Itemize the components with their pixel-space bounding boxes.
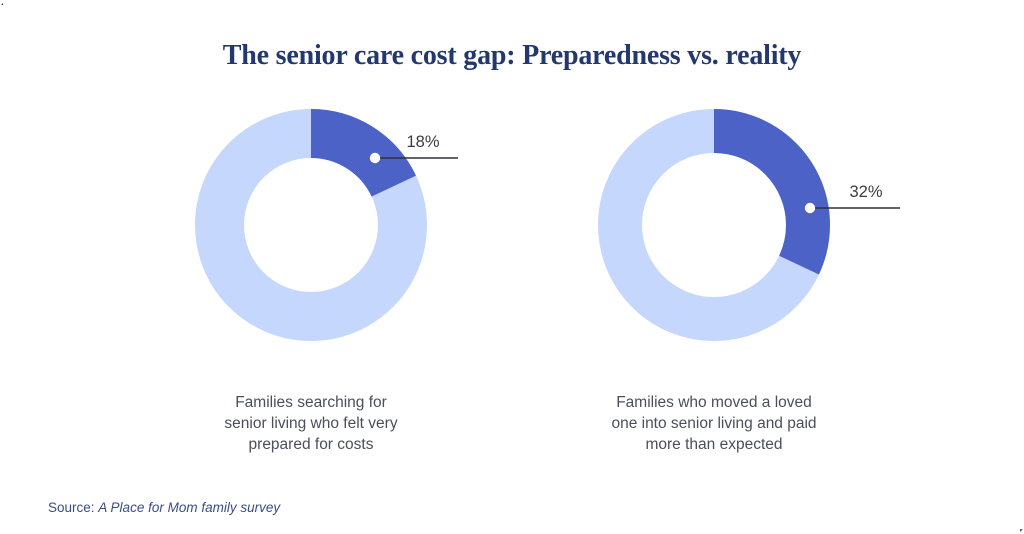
corner-artifact-top-left xyxy=(0,0,3,5)
donut-2-svg: 32% xyxy=(598,109,908,349)
source-note: Source: A Place for Mom family survey xyxy=(48,500,280,515)
donut-2-value-label: 32% xyxy=(849,183,882,201)
donut-1-svg: 18% xyxy=(195,109,485,349)
donut-1-caption-line-3: prepared for costs xyxy=(181,434,441,455)
donut-2-caption-line-3: more than expected xyxy=(568,434,860,455)
donut-2-caption: Families who moved a loved one into seni… xyxy=(568,392,860,455)
donut-1-leader-dot xyxy=(370,153,380,163)
donut-2-leader-dot xyxy=(805,203,815,213)
corner-artifact-bottom-right xyxy=(1020,529,1023,533)
source-name: A Place for Mom family survey xyxy=(98,500,280,515)
donut-2-caption-line-2: one into senior living and paid xyxy=(568,413,860,434)
source-label: Source: xyxy=(48,500,95,515)
chart-card: The senior care cost gap: Preparedness v… xyxy=(0,0,1024,534)
donut-chart-2: 32% xyxy=(598,109,908,349)
donut-chart-1: 18% xyxy=(195,109,485,349)
donut-1-caption: Families searching for senior living who… xyxy=(181,392,441,455)
donut-1-caption-line-2: senior living who felt very xyxy=(181,413,441,434)
donut-2-caption-line-1: Families who moved a loved xyxy=(568,392,860,413)
donut-1-value-label: 18% xyxy=(406,133,439,151)
donut-1-caption-line-1: Families searching for xyxy=(181,392,441,413)
page-title: The senior care cost gap: Preparedness v… xyxy=(0,40,1024,72)
